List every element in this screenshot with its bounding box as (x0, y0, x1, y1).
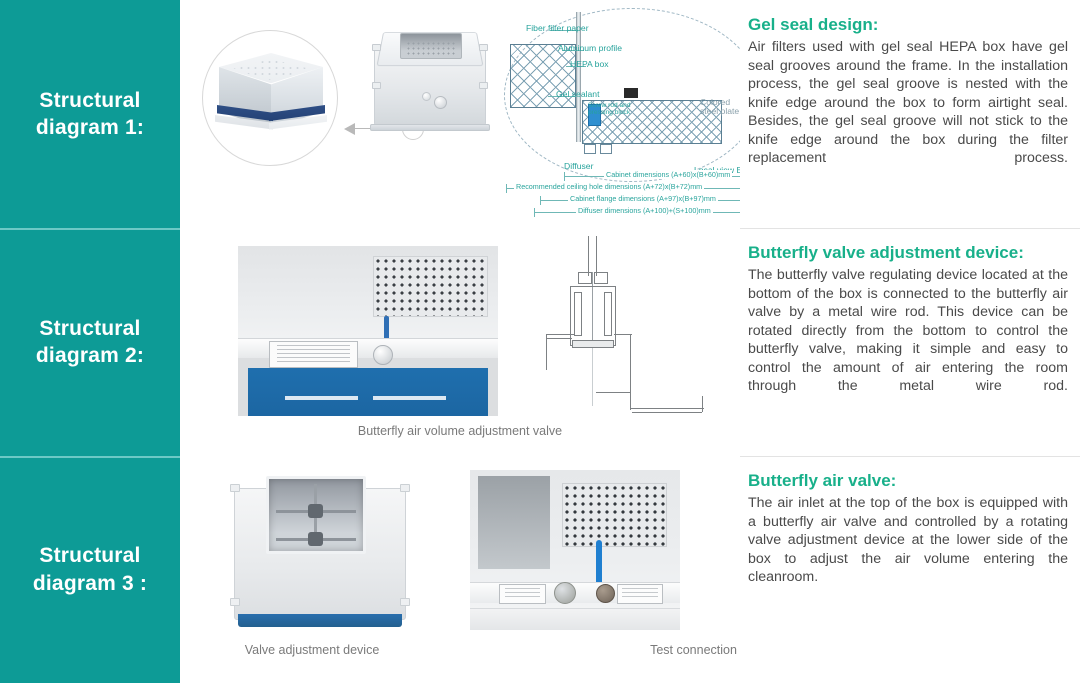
section-body-gel-seal-design: Air filters used with gel seal HEPA box … (748, 38, 1068, 186)
section-body-butterfly-air-valve: The air inlet at the top of the box is e… (748, 494, 1068, 605)
row1-media: Fiber filter paper Aluminum profile HEPA… (180, 0, 740, 228)
row-label-line2: diagram 1: (36, 114, 144, 141)
callout-fiber-filter-paper: Fiber filter paper (526, 24, 589, 33)
perforated-diffuser-grille (373, 256, 487, 317)
row-label-text: Structural diagram 1: (30, 87, 150, 142)
row-label-text: Structural diagram 3 : (27, 542, 153, 597)
section-title-butterfly-valve-adjustment: Butterfly valve adjustment device: (748, 242, 1068, 263)
photo-caption-test-connection-port: Test connection port (426, 643, 740, 657)
row-label-line1: Structural (33, 542, 147, 569)
row-label-structural-diagram-2: Structural diagram 2: (0, 228, 180, 456)
row-label-line2: diagram 2: (36, 342, 144, 369)
dimension-cabinet-flange: Cabinet flange dimensions (A+97)x(B+97)m… (568, 194, 718, 203)
valve-mechanism-line-drawing (510, 236, 740, 436)
row2-media: Butterfly air volume adjustment valve (180, 228, 740, 456)
structural-diagram-sheet: Structural diagram 1: (0, 0, 1080, 683)
row-label-line1: Structural (36, 315, 144, 342)
section-title-gel-seal-design: Gel seal design: (748, 14, 1068, 35)
callout-aluminum-profile: Aluminum profile (558, 44, 622, 53)
valve-adjustment-device-photo (228, 466, 413, 636)
row-label-structural-diagram-1: Structural diagram 1: (0, 0, 180, 228)
blue-wall-panel (248, 368, 487, 416)
nameplate-label (269, 341, 357, 368)
adjustment-knob (373, 345, 393, 365)
row3-media: Valve adjustment device Test connection … (180, 456, 740, 683)
perforated-diffuser-grille (562, 483, 667, 547)
magnified-detail-circle (202, 30, 338, 166)
callout-hepa-box: HEPA box (570, 60, 609, 69)
callout-colored-steel-plate: Colored steel plate (700, 98, 740, 117)
butterfly-valve-photo (238, 246, 498, 416)
row-label-structural-diagram-3: Structural diagram 3 : (0, 456, 180, 683)
blue-tube (596, 540, 602, 585)
test-connection-port-photo (470, 470, 680, 630)
table-row: Structural diagram 3 : (0, 456, 1080, 683)
row3-text: Butterfly air valve: The air inlet at th… (740, 456, 1080, 683)
valve-knob (434, 96, 447, 109)
dimension-ceiling-hole: Recommended ceiling hole dimensions (A+7… (514, 182, 704, 191)
callout-gel-sealant: Gel sealant (556, 90, 599, 99)
dimension-cabinet: Cabinet dimensions (A+60)x(B+60)mm (604, 170, 732, 179)
row-label-line1: Structural (36, 87, 144, 114)
section-body-butterfly-valve-adjustment: The butterfly valve regulating device lo… (748, 266, 1068, 414)
row-label-text: Structural diagram 2: (30, 315, 150, 370)
table-row: Structural diagram 2: Butterfly air volu… (0, 228, 1080, 456)
nameplate-label-right (617, 584, 663, 605)
adjustment-knob (596, 584, 615, 603)
row2-text: Butterfly valve adjustment device: The b… (740, 228, 1080, 456)
callout-screw-rod-pressing-block: Screw rod and pressing block (588, 102, 646, 117)
row1-text: Gel seal design: Air filters used with g… (740, 0, 1080, 228)
dimension-diffuser: Diffuser dimensions (A+100)+(S+100)mm (576, 206, 713, 215)
filter-corner-illustration (211, 53, 331, 157)
nameplate-label-left (499, 584, 545, 605)
hepa-box-photo (370, 22, 490, 142)
section-title-butterfly-air-valve: Butterfly air valve: (748, 470, 1068, 491)
table-row: Structural diagram 1: (0, 0, 1080, 228)
cross-section-drawing: Fiber filter paper Aluminum profile HEPA… (504, 4, 740, 200)
dimension-annotations: Cabinet dimensions (A+60)x(B+60)mm Recom… (492, 170, 740, 218)
test-port (554, 582, 576, 604)
row-label-line2: diagram 3 : (33, 570, 147, 597)
